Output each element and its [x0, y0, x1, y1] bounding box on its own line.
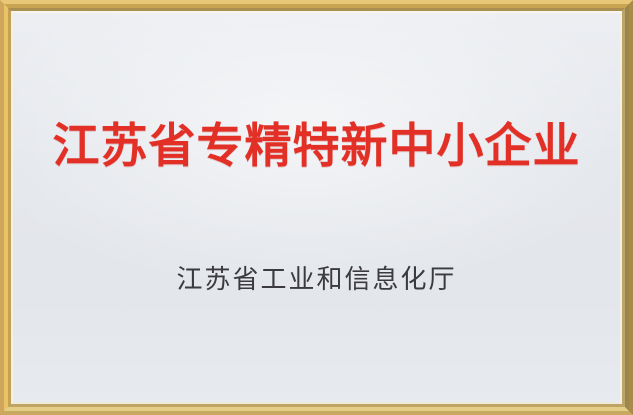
plaque-title: 江苏省专精特新中小企业	[53, 121, 581, 174]
plaque-subtitle-row: 江苏省工业和信息化厅	[13, 265, 620, 296]
award-plaque: 江苏省专精特新中小企业 江苏省工业和信息化厅	[0, 0, 633, 415]
plaque-title-row: 江苏省专精特新中小企业	[13, 121, 620, 174]
plaque-field: 江苏省专精特新中小企业 江苏省工业和信息化厅	[13, 13, 620, 402]
field-sheen-highlight	[13, 13, 620, 402]
plaque-issuer-subtitle: 江苏省工业和信息化厅	[176, 265, 456, 296]
